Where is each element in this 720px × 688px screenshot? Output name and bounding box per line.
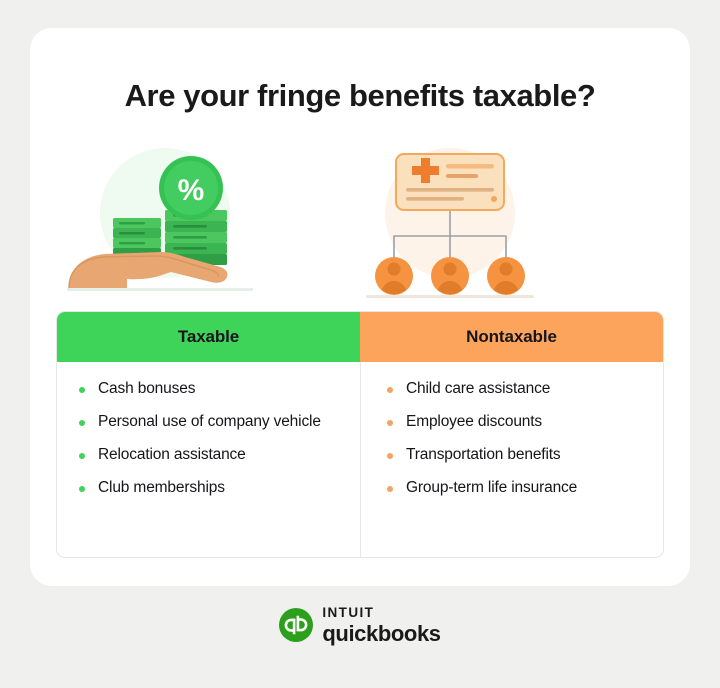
bullet-icon [387,453,393,459]
list-item: Personal use of company vehicle [79,413,346,432]
column-header-taxable: Taxable [57,312,360,362]
list-item: Group-term life insurance [387,479,649,498]
list-item-label: Cash bonuses [98,380,195,397]
bullet-icon [79,453,85,459]
list-item-label: Transportation benefits [406,446,561,463]
brand-quickbooks: quickbooks [322,623,440,645]
brand-logo: INTUIT quickbooks [0,606,720,645]
list-item-label: Club memberships [98,479,225,496]
bullet-icon [387,486,393,492]
quickbooks-qb-logo-icon [279,608,313,642]
bullet-icon [79,420,85,426]
illustrations-row: % [30,140,690,305]
page-title: Are your fringe benefits taxable? [30,78,690,114]
hand-cash-percent-icon: % [65,140,265,305]
list-item: Child care assistance [387,380,649,399]
list-item: Cash bonuses [79,380,346,399]
illustration-taxable: % [65,140,265,305]
insurance-card-people-icon [350,140,550,305]
illustration-nontaxable [350,140,550,305]
column-taxable-items: Cash bonuses Personal use of company veh… [57,362,360,558]
table-body: Cash bonuses Personal use of company veh… [57,362,663,558]
column-header-nontaxable: Nontaxable [360,312,663,362]
table-header-row: Taxable Nontaxable [57,312,663,362]
nontaxable-list: Child care assistance Employee discounts… [387,380,649,498]
list-item-label: Group-term life insurance [406,479,577,496]
list-item: Employee discounts [387,413,649,432]
bullet-icon [387,420,393,426]
list-item-label: Child care assistance [406,380,550,397]
benefits-comparison-table: Taxable Nontaxable Cash bonuses Personal… [56,311,664,558]
bullet-icon [79,486,85,492]
list-item-label: Relocation assistance [98,446,246,463]
brand-intuit: INTUIT [322,606,440,620]
svg-text:%: % [178,174,205,207]
list-item-label: Personal use of company vehicle [98,413,321,430]
infographic-page: Are your fringe benefits taxable? [0,0,720,688]
list-item: Transportation benefits [387,446,649,465]
brand-wordmark: INTUIT quickbooks [322,606,440,645]
column-nontaxable-items: Child care assistance Employee discounts… [360,362,663,558]
content-card: Are your fringe benefits taxable? [30,28,690,586]
bullet-icon [79,387,85,393]
taxable-list: Cash bonuses Personal use of company veh… [79,380,346,498]
list-item: Relocation assistance [79,446,346,465]
bullet-icon [387,387,393,393]
list-item-label: Employee discounts [406,413,542,430]
list-item: Club memberships [79,479,346,498]
